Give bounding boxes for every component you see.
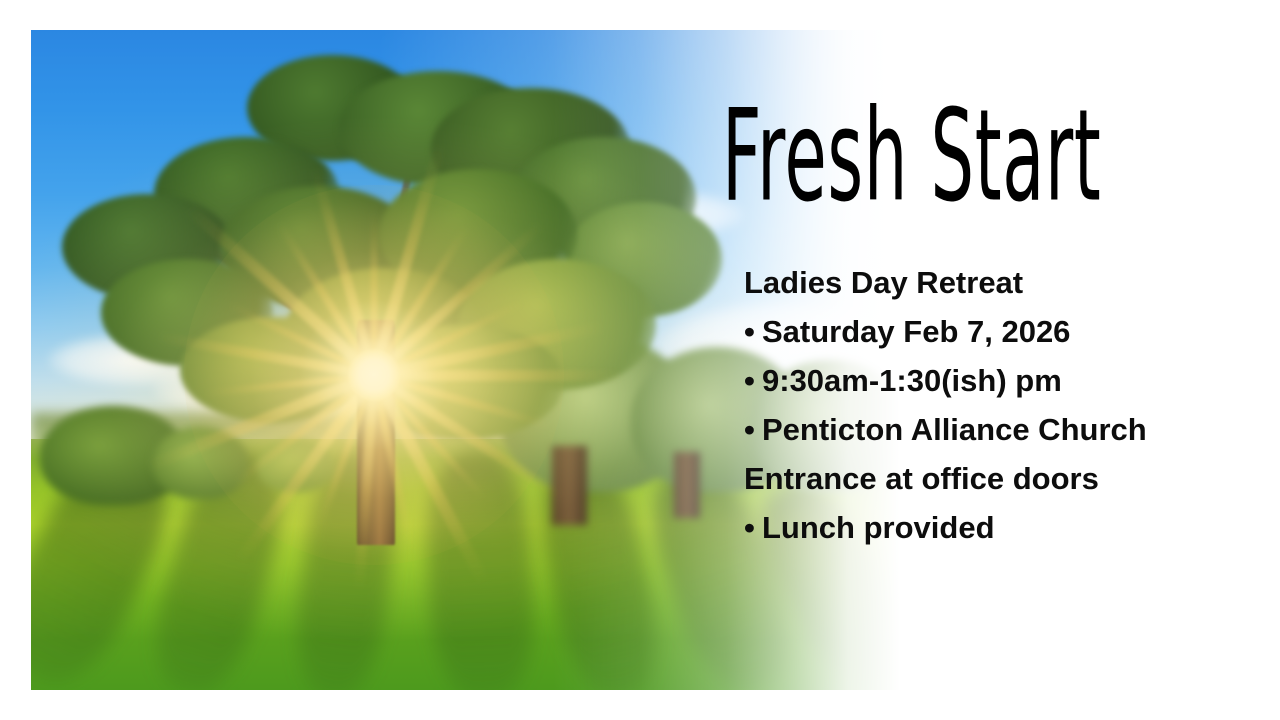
bullet-icon: • (744, 405, 762, 454)
list-item-label: Penticton Alliance Church (762, 412, 1147, 447)
list-item: •Lunch provided (744, 503, 1264, 552)
presentation-slide: Fresh Start Ladies Day Retreat •Saturday… (0, 0, 1280, 720)
list-item: •Saturday Feb 7, 2026 (744, 307, 1264, 356)
list-item: •9:30am-1:30(ish) pm (744, 356, 1264, 405)
slide-title: Fresh Start (722, 92, 1101, 219)
slide-body: Ladies Day Retreat •Saturday Feb 7, 2026… (744, 258, 1264, 552)
body-heading: Ladies Day Retreat (744, 258, 1264, 307)
list-item: •Penticton Alliance Church (744, 405, 1264, 454)
bullet-icon: • (744, 307, 762, 356)
bullet-icon: • (744, 356, 762, 405)
list-item-label: 9:30am-1:30(ish) pm (762, 363, 1062, 398)
list-item-label: Lunch provided (762, 510, 995, 545)
list-item-continuation: Entrance at office doors (744, 454, 1264, 503)
bullet-icon: • (744, 503, 762, 552)
list-item-label: Saturday Feb 7, 2026 (762, 314, 1070, 349)
